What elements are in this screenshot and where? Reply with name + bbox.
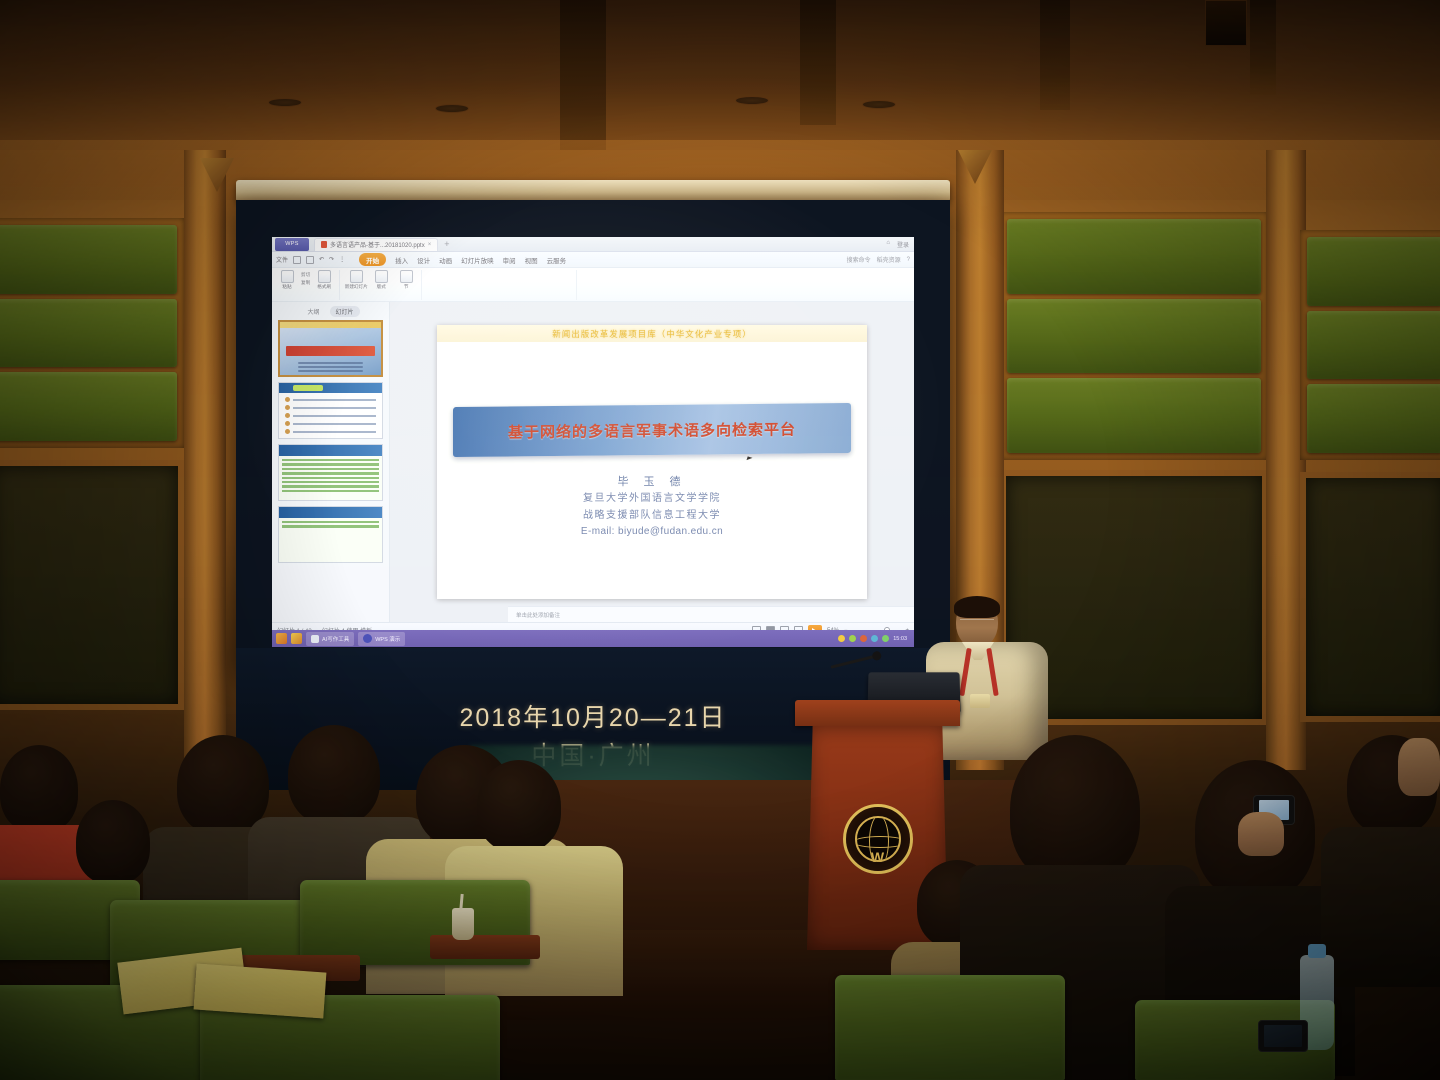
- drink-cup: [452, 908, 474, 940]
- taskbar-item-ai-tool[interactable]: AI写作工具: [306, 632, 354, 646]
- acoustic-panel-group-far-right: [1300, 230, 1440, 460]
- ceiling-light: [862, 100, 896, 109]
- ribbon-group-clipboard: 粘贴 剪切 复制 格式刷: [276, 270, 340, 300]
- tab-cloud[interactable]: 云服务: [547, 255, 567, 265]
- taskbar-clock[interactable]: 15:03: [893, 636, 907, 642]
- thumbnail-list[interactable]: 1 2: [274, 320, 387, 620]
- auditorium-seat: [835, 975, 1065, 1080]
- window-controls: ⌂ 登录: [886, 240, 914, 249]
- section-button[interactable]: 节: [395, 270, 417, 290]
- name-badge: [970, 694, 990, 708]
- acoustic-panel: [1307, 384, 1440, 453]
- bottle-cap: [1308, 944, 1326, 958]
- tray-icon[interactable]: [838, 635, 845, 642]
- handout-papers: [194, 964, 327, 1019]
- windows-taskbar: AI写作工具 WPS 演示 15:03: [272, 630, 914, 647]
- layout-button[interactable]: 版式: [370, 270, 392, 290]
- document-tab[interactable]: 多语言语产品-基于...20181020.pptx ×: [314, 238, 438, 251]
- section-icon: [400, 270, 413, 283]
- acoustic-panel: [1307, 237, 1440, 306]
- new-slide-button[interactable]: 新建幻灯片: [345, 270, 367, 290]
- emblem-letter: W: [871, 849, 884, 865]
- author-name: 毕 玉 德: [437, 473, 867, 491]
- thumbnail-slide-1[interactable]: 1: [278, 320, 383, 377]
- ceiling-light: [735, 96, 769, 105]
- tray-icon[interactable]: [871, 635, 878, 642]
- slide-author-block: 毕 玉 德 复旦大学外国语言文学学院 战略支援部队信息工程大学 E-mail: …: [437, 473, 867, 541]
- thumbnail-slide-2[interactable]: 2: [278, 382, 383, 439]
- thumb-header: [279, 383, 382, 393]
- paste-label: 粘贴: [282, 284, 291, 290]
- pinned-app-icon[interactable]: [291, 633, 302, 644]
- tray-icon[interactable]: [860, 635, 867, 642]
- ceiling-beam: [800, 0, 836, 125]
- wps-title-bar: WPS 多语言语产品-基于...20181020.pptx × + ⌂ 登录: [272, 237, 914, 252]
- acoustic-panel: [1007, 299, 1261, 374]
- tab-slides[interactable]: 幻灯片: [330, 306, 360, 317]
- acoustic-panel: [1307, 311, 1440, 380]
- wps-presentation-window: WPS 多语言语产品-基于...20181020.pptx × + ⌂ 登录 文…: [272, 237, 914, 647]
- person-torso: [1321, 827, 1440, 987]
- affiliation-line-2: 战略支援部队信息工程大学: [437, 508, 867, 525]
- ribbon-tabs: 开始 插入 设计 动画 幻灯片放映 审阅 视图 云服务: [359, 253, 566, 266]
- person-head: [1010, 735, 1140, 885]
- thumb-hero: [280, 328, 381, 375]
- tab-view[interactable]: 视图: [525, 255, 538, 265]
- new-tab-icon[interactable]: +: [444, 239, 449, 249]
- wps-body: 大纲 幻灯片 1 2: [272, 302, 914, 622]
- thumb-bullets: [279, 393, 382, 438]
- notes-placeholder: 单击此处添加备注: [516, 611, 560, 619]
- hand-holding-phone: [1238, 812, 1284, 856]
- new-slide-icon: [350, 270, 363, 283]
- wps-ribbon-tab-bar: 文件 ↶ ↷ ⋮ 开始 插入 设计 动画 幻灯片放映 审阅 视图 云服务: [272, 252, 914, 268]
- thumb-text-lines: [298, 362, 363, 372]
- tray-icon[interactable]: [849, 635, 856, 642]
- university-emblem: W: [843, 804, 913, 874]
- thumbnail-number: 3: [278, 447, 279, 453]
- ceiling-light: [435, 104, 469, 113]
- thumb-text-block: [279, 456, 382, 500]
- person-head: [288, 725, 380, 825]
- slide-title-banner: 基于网络的多语言军事术语多向检索平台: [453, 403, 851, 457]
- search-command-input[interactable]: 搜索命令: [847, 255, 871, 264]
- thumbnail-slide-4[interactable]: 4: [278, 506, 383, 563]
- smartphone-secondary: [1258, 1020, 1308, 1052]
- author-email: E-mail: biyude@fudan.edu.cn: [437, 524, 867, 541]
- app-icon: [311, 635, 319, 643]
- notes-pane[interactable]: 单击此处添加备注: [508, 606, 914, 622]
- acoustic-panel-group-left: [0, 218, 184, 448]
- slide-editing-area[interactable]: 新闻出版改革发展项目库（中华文化产业专项） 基于网络的多语言军事术语多向检索平台: [390, 302, 914, 622]
- wood-pilaster-left: [184, 150, 226, 770]
- thumbnail-number: 2: [278, 385, 279, 391]
- acoustic-panel: [0, 225, 177, 294]
- tray-icon[interactable]: [882, 635, 889, 642]
- section-label: 节: [404, 284, 409, 290]
- tab-insert[interactable]: 插入: [395, 255, 408, 265]
- person-head: [177, 735, 269, 835]
- thumb-header: [279, 507, 382, 518]
- wps-ribbon: 粘贴 剪切 复制 格式刷 新建幻灯片: [272, 268, 914, 302]
- layout-label: 版式: [377, 284, 386, 290]
- tab-outline[interactable]: 大纲: [301, 306, 325, 317]
- wps-app-icon: [363, 634, 372, 643]
- slide-thumbnail-pane: 大纲 幻灯片 1 2: [272, 302, 390, 622]
- person-head: [477, 760, 561, 852]
- wall-dark-panel-far-right: [1300, 472, 1440, 722]
- undo-icon[interactable]: ↶: [319, 256, 324, 263]
- layout-icon: [375, 270, 388, 283]
- thumbnail-number: 4: [278, 509, 279, 515]
- phone-screen: [1264, 1025, 1302, 1047]
- glasses-icon: [960, 619, 994, 625]
- taskbar-item-wps[interactable]: WPS 演示: [358, 632, 405, 646]
- person-head: [76, 800, 150, 884]
- paste-icon: [281, 270, 294, 283]
- tab-review[interactable]: 审阅: [503, 255, 516, 265]
- help-icon[interactable]: ?: [907, 257, 910, 263]
- screen-mount-left: [200, 158, 234, 192]
- ceiling-beam: [560, 0, 606, 150]
- thumbnail-view-tabs: 大纲 幻灯片: [274, 304, 387, 320]
- thumb-title-bar: [286, 346, 375, 356]
- ceiling-speaker: [1205, 0, 1247, 46]
- format-painter-label: 格式刷: [317, 284, 331, 290]
- affiliation-line-1: 复旦大学外国语言文学学院: [437, 491, 867, 508]
- taskbar-item-label: WPS 演示: [375, 635, 400, 643]
- save-icon[interactable]: [293, 256, 301, 264]
- paste-button[interactable]: 粘贴: [276, 270, 298, 290]
- tab-animation[interactable]: 动画: [439, 255, 452, 265]
- ribbon-group-font: [427, 270, 577, 300]
- tab-slideshow[interactable]: 幻灯片放映: [461, 255, 494, 265]
- clipboard-minor-buttons: 剪切 复制: [301, 270, 310, 286]
- acoustic-panel-group-right: [1000, 212, 1268, 460]
- taskbar-item-label: AI写作工具: [322, 635, 349, 643]
- resource-button[interactable]: 稻壳资源: [877, 255, 901, 264]
- acoustic-panel: [1007, 378, 1261, 453]
- presenter-hair: [954, 596, 1000, 618]
- current-slide[interactable]: 新闻出版改革发展项目库（中华文化产业专项） 基于网络的多语言军事术语多向检索平台: [437, 325, 867, 599]
- screen-mount-right: [958, 150, 992, 184]
- slide-banner: 新闻出版改革发展项目库（中华文化产业专项）: [437, 325, 867, 342]
- ceiling-beam: [1250, 0, 1276, 95]
- slide-banner-text: 新闻出版改革发展项目库（中华文化产业专项）: [552, 328, 752, 340]
- tab-design[interactable]: 设计: [417, 255, 430, 265]
- acoustic-panel: [1007, 219, 1261, 294]
- start-icon[interactable]: [276, 633, 287, 644]
- redo-icon[interactable]: ↷: [329, 256, 334, 263]
- file-menu-button[interactable]: 文件: [276, 255, 288, 264]
- raised-hand: [1398, 738, 1440, 796]
- format-painter-button[interactable]: 格式刷: [313, 270, 335, 290]
- tab-home[interactable]: 开始: [359, 253, 386, 266]
- print-icon[interactable]: [306, 256, 314, 264]
- cut-button[interactable]: 剪切: [301, 272, 310, 278]
- new-slide-label: 新建幻灯片: [345, 284, 368, 290]
- seat-armrest: [430, 935, 540, 959]
- thumb-header: [279, 445, 382, 456]
- ribbon-group-paragraph: [582, 270, 732, 300]
- projected-computer-screen: WPS 多语言语产品-基于...20181020.pptx × + ⌂ 登录 文…: [272, 237, 914, 647]
- more-icon[interactable]: ⋮: [339, 256, 345, 263]
- projector-screen-case: [236, 180, 950, 202]
- home-icon[interactable]: ⌂: [886, 240, 890, 249]
- podium-top: [795, 700, 960, 726]
- thumb-text-block: [279, 518, 382, 562]
- close-tab-icon[interactable]: ×: [428, 242, 432, 248]
- slide-title: 基于网络的多语言军事术语多向检索平台: [508, 418, 796, 442]
- format-painter-icon: [318, 270, 331, 283]
- ribbon-group-slides: 新建幻灯片 版式 节: [345, 270, 422, 300]
- quick-access-toolbar: 文件 ↶ ↷ ⋮: [276, 255, 345, 264]
- wps-logo: WPS: [275, 238, 309, 251]
- ceiling-beam: [1040, 0, 1070, 110]
- copy-button[interactable]: 复制: [301, 280, 310, 286]
- conference-hall-photo: WPS 多语言语产品-基于...20181020.pptx × + ⌂ 登录 文…: [0, 0, 1440, 1080]
- ribbon-right-controls: 搜索命令 稻壳资源 ?: [847, 255, 910, 264]
- account-label[interactable]: 登录: [897, 240, 909, 249]
- system-tray: 15:03: [838, 635, 910, 642]
- acoustic-panel: [0, 299, 177, 368]
- ceiling-light: [268, 98, 302, 107]
- thumbnail-slide-3[interactable]: 3: [278, 444, 383, 501]
- acoustic-panel: [0, 372, 177, 441]
- document-tab-title: 多语言语产品-基于...20181020.pptx: [330, 240, 425, 249]
- wall-dark-panel-left: [0, 460, 184, 710]
- ppt-file-icon: [321, 241, 327, 248]
